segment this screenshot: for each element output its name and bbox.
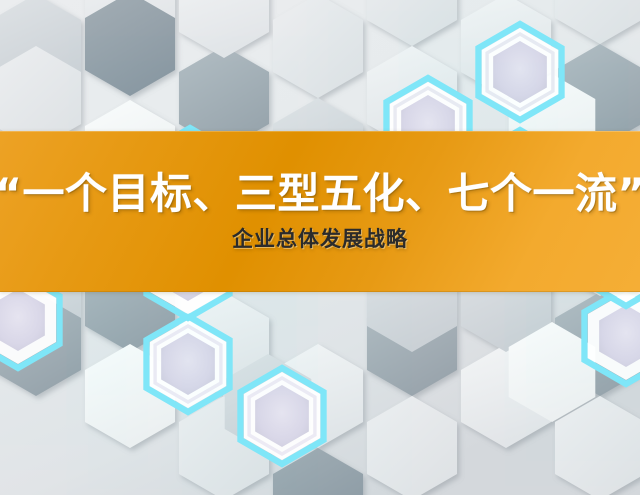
title-banner: “一个目标、三型五化、七个一流” 企业总体发展战略 (0, 131, 640, 292)
slide-main-title: “一个目标、三型五化、七个一流” (0, 173, 640, 215)
presentation-slide: “一个目标、三型五化、七个一流” 企业总体发展战略 (0, 0, 640, 495)
slide-subtitle: 企业总体发展战略 (232, 229, 408, 250)
